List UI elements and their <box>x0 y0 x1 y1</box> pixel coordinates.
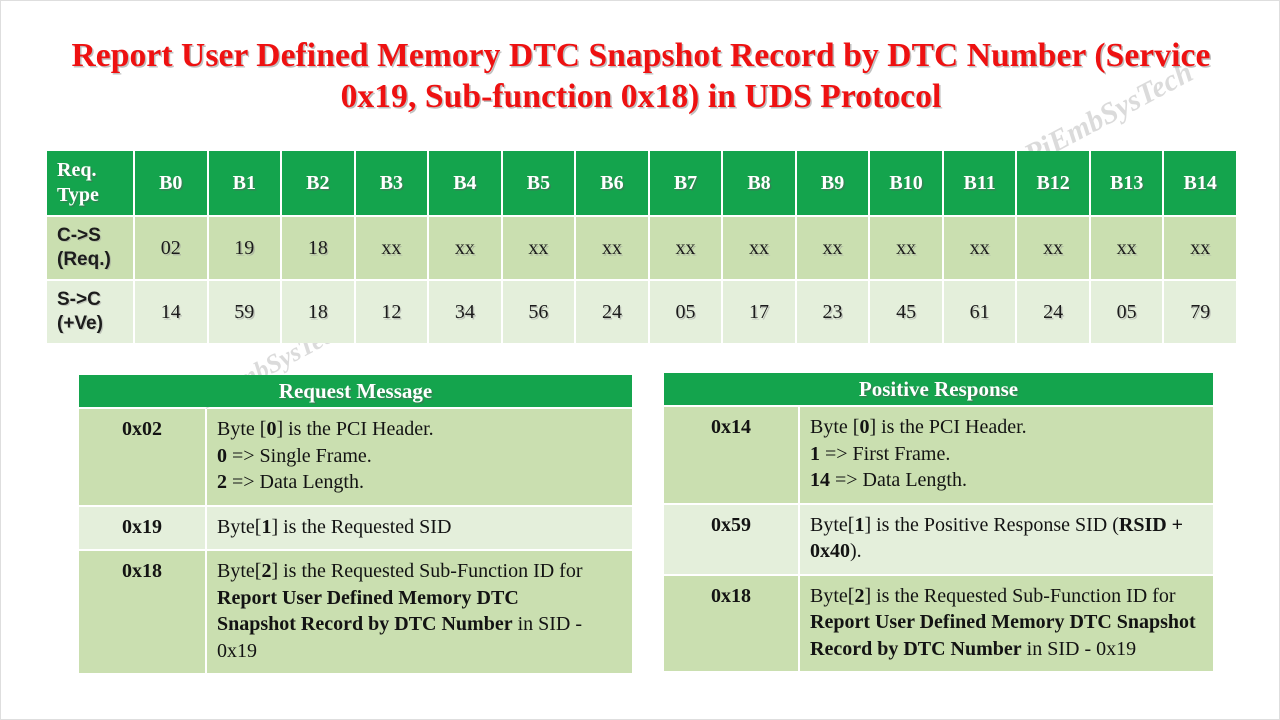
positive-response-table: Positive Response 0x14 Byte [0] is the P… <box>662 371 1215 673</box>
row-label-response-line2: (+Ve) <box>57 313 103 334</box>
cell-req-b2: 18 <box>282 217 354 279</box>
response-desc-0x14-line3: 14 => Data Length. <box>810 469 967 491</box>
cell-res-b8: 17 <box>723 281 795 343</box>
response-code-0x59: 0x59 <box>664 505 798 574</box>
column-header-req-type: Req. Type <box>47 151 133 215</box>
cell-req-b5: xx <box>503 217 575 279</box>
column-header-b1: B1 <box>209 151 281 215</box>
cell-req-b1: 19 <box>209 217 281 279</box>
cell-res-b14: 79 <box>1164 281 1236 343</box>
cell-req-b11: xx <box>944 217 1016 279</box>
request-desc-0x19: Byte[1] is the Requested SID <box>207 507 632 550</box>
request-message-table: Request Message 0x02 Byte [0] is the PCI… <box>77 373 634 675</box>
column-header-b9: B9 <box>797 151 869 215</box>
request-message-title: Request Message <box>79 375 632 407</box>
positive-response-header-row: Positive Response <box>664 373 1213 405</box>
cell-res-b3: 12 <box>356 281 428 343</box>
row-label-response-line1: S->C <box>57 289 101 310</box>
response-code-0x14: 0x14 <box>664 407 798 503</box>
cell-req-b0: 02 <box>135 217 207 279</box>
row-label-request: C->S (Req.) <box>47 217 133 279</box>
column-header-b3: B3 <box>356 151 428 215</box>
cell-res-b2: 18 <box>282 281 354 343</box>
column-header-b6: B6 <box>576 151 648 215</box>
cell-res-b6: 24 <box>576 281 648 343</box>
req-type-line1: Req. Type <box>57 159 99 206</box>
cell-res-b1: 59 <box>209 281 281 343</box>
column-header-b12: B12 <box>1017 151 1089 215</box>
table-row-response: S->C (+Ve) 14 59 18 12 34 56 24 05 17 23… <box>47 281 1236 343</box>
column-header-b0: B0 <box>135 151 207 215</box>
cell-res-b12: 24 <box>1017 281 1089 343</box>
cell-res-b7: 05 <box>650 281 722 343</box>
cell-req-b12: xx <box>1017 217 1089 279</box>
response-row-0x18: 0x18 Byte[2] is the Requested Sub-Functi… <box>664 576 1213 672</box>
request-code-0x19: 0x19 <box>79 507 205 550</box>
table-row-request: C->S (Req.) 02 19 18 xx xx xx xx xx xx x… <box>47 217 1236 279</box>
response-row-0x59: 0x59 Byte[1] is the Positive Response SI… <box>664 505 1213 574</box>
cell-req-b3: xx <box>356 217 428 279</box>
byte-table-header-row: Req. Type B0 B1 B2 B3 B4 B5 B6 B7 B8 B9 … <box>47 151 1236 215</box>
cell-req-b13: xx <box>1091 217 1163 279</box>
column-header-b4: B4 <box>429 151 501 215</box>
row-label-response: S->C (+Ve) <box>47 281 133 343</box>
request-row-0x18: 0x18 Byte[2] is the Requested Sub-Functi… <box>79 551 632 673</box>
response-desc-0x18: Byte[2] is the Requested Sub-Function ID… <box>800 576 1213 672</box>
request-desc-0x18: Byte[2] is the Requested Sub-Function ID… <box>207 551 632 673</box>
positive-response-title: Positive Response <box>664 373 1213 405</box>
column-header-b5: B5 <box>503 151 575 215</box>
request-row-0x02: 0x02 Byte [0] is the PCI Header. 0 => Si… <box>79 409 632 505</box>
request-desc-0x02: Byte [0] is the PCI Header. 0 => Single … <box>207 409 632 505</box>
response-desc-0x59: Byte[1] is the Positive Response SID (RS… <box>800 505 1213 574</box>
response-desc-0x14-line2: 1 => First Frame. <box>810 443 950 465</box>
response-row-0x14: 0x14 Byte [0] is the PCI Header. 1 => Fi… <box>664 407 1213 503</box>
column-header-b13: B13 <box>1091 151 1163 215</box>
cell-res-b0: 14 <box>135 281 207 343</box>
cell-req-b4: xx <box>429 217 501 279</box>
byte-frame-table: Req. Type B0 B1 B2 B3 B4 B5 B6 B7 B8 B9 … <box>45 149 1238 345</box>
row-label-request-line2: (Req.) <box>57 249 111 270</box>
response-desc-0x18-text: Byte[2] is the Requested Sub-Function ID… <box>810 585 1196 660</box>
request-desc-0x19-line1: Byte[1] is the Requested SID <box>217 516 451 538</box>
cell-res-b10: 45 <box>870 281 942 343</box>
column-header-b2: B2 <box>282 151 354 215</box>
column-header-b7: B7 <box>650 151 722 215</box>
cell-req-b10: xx <box>870 217 942 279</box>
request-code-0x18: 0x18 <box>79 551 205 673</box>
cell-res-b9: 23 <box>797 281 869 343</box>
column-header-b11: B11 <box>944 151 1016 215</box>
response-desc-0x59-text: Byte[1] is the Positive Response SID (RS… <box>810 514 1183 563</box>
cell-req-b8: xx <box>723 217 795 279</box>
column-header-b10: B10 <box>870 151 942 215</box>
cell-req-b7: xx <box>650 217 722 279</box>
cell-req-b6: xx <box>576 217 648 279</box>
request-row-0x19: 0x19 Byte[1] is the Requested SID <box>79 507 632 550</box>
request-message-header-row: Request Message <box>79 375 632 407</box>
cell-res-b4: 34 <box>429 281 501 343</box>
cell-req-b9: xx <box>797 217 869 279</box>
request-code-0x02: 0x02 <box>79 409 205 505</box>
cell-res-b13: 05 <box>1091 281 1163 343</box>
page-title: Report User Defined Memory DTC Snapshot … <box>51 35 1231 117</box>
request-desc-0x02-line2: 0 => Single Frame. <box>217 445 372 467</box>
slide-canvas: PiEmbSysTech PiEmbSysTech Report User De… <box>1 1 1279 719</box>
response-desc-0x14-line1: Byte [0] is the PCI Header. <box>810 416 1027 438</box>
response-desc-0x14: Byte [0] is the PCI Header. 1 => First F… <box>800 407 1213 503</box>
request-desc-0x02-line1: Byte [0] is the PCI Header. <box>217 418 434 440</box>
column-header-b14: B14 <box>1164 151 1236 215</box>
column-header-b8: B8 <box>723 151 795 215</box>
request-desc-0x18-text: Byte[2] is the Requested Sub-Function ID… <box>217 560 583 662</box>
response-code-0x18: 0x18 <box>664 576 798 672</box>
row-label-request-line1: C->S <box>57 225 101 246</box>
request-desc-0x02-line3: 2 => Data Length. <box>217 471 364 493</box>
cell-req-b14: xx <box>1164 217 1236 279</box>
cell-res-b5: 56 <box>503 281 575 343</box>
cell-res-b11: 61 <box>944 281 1016 343</box>
